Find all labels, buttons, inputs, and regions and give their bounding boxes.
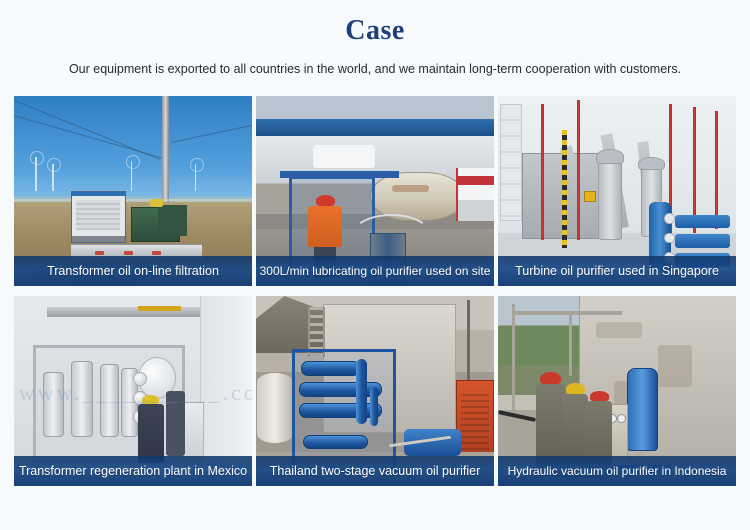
- case-card-turbine-oil-purifier-singapore[interactable]: Turbine oil purifier used in Singapore: [498, 96, 736, 286]
- case-caption: Transformer regeneration plant in Mexico: [14, 456, 252, 486]
- wall-stain: [596, 322, 643, 338]
- purifier-filter: [675, 215, 730, 229]
- page-header: Case Our equipment is exported to all co…: [0, 0, 750, 77]
- generator-louvres: [461, 394, 490, 461]
- vacuum-column: [356, 359, 367, 424]
- red-hard-hat: [590, 391, 609, 401]
- warning-chain: [562, 130, 567, 248]
- filter-cap: [664, 213, 674, 224]
- vacuum-column: [370, 387, 378, 426]
- red-standpipe: [577, 100, 580, 241]
- marker-lamp: [124, 251, 133, 255]
- case-card-transformer-oil-on-line-filtration[interactable]: Transformer oil on-line filtration: [14, 96, 252, 286]
- power-line: [171, 122, 252, 143]
- cabinet-vent: [76, 200, 120, 230]
- wind-turbine-icon: [195, 164, 197, 191]
- case-card-300l-min-lubricating-oil-purifier[interactable]: 300L/min lubricating oil purifier used o…: [256, 96, 494, 286]
- pressure-gauge: [617, 414, 626, 423]
- transformer-bushing: [598, 161, 622, 241]
- case-caption: Hydraulic vacuum oil purifier in Indones…: [498, 456, 736, 486]
- case-caption: Thailand two-stage vacuum oil purifier: [256, 456, 494, 486]
- orange-jacket: [308, 206, 341, 248]
- truck-stripe: [458, 176, 494, 186]
- purifier-canopy: [280, 171, 400, 177]
- wind-turbine-icon: [131, 161, 133, 191]
- filtration-cabinet: [71, 191, 125, 243]
- case-card-transformer-regeneration-plant-mexico[interactable]: www.__________.com Transformer regenerat…: [14, 296, 252, 486]
- white-truck: [456, 168, 494, 221]
- horizontal-pipe: [512, 311, 621, 315]
- filtration-trailer: [71, 191, 195, 259]
- white-tarp: [313, 145, 375, 168]
- storage-silo: [256, 372, 294, 444]
- purifier-filter: [675, 234, 730, 248]
- purifier-cylinder: [301, 361, 360, 376]
- page-title: Case: [0, 14, 750, 48]
- red-hard-hat: [316, 195, 335, 207]
- filter-cap: [664, 233, 674, 244]
- bushing-cap: [638, 157, 664, 170]
- case-caption: Transformer oil on-line filtration: [14, 256, 252, 286]
- case-gallery: Transformer oil on-line filtration 300L/…: [14, 96, 736, 486]
- page-subtitle: Our equipment is exported to all countri…: [0, 61, 750, 77]
- red-hard-hat: [540, 372, 561, 385]
- case-card-hydraulic-vacuum-oil-purifier-indonesia[interactable]: Hydraulic vacuum oil purifier in Indones…: [498, 296, 736, 486]
- vacuum-pump: [303, 435, 368, 449]
- yellow-cover: [150, 199, 162, 207]
- red-standpipe: [541, 104, 544, 241]
- generator-radiator: [158, 205, 188, 236]
- vertical-pipe: [512, 304, 515, 429]
- tank-rust-stain: [392, 185, 429, 192]
- vertical-pipe: [569, 311, 572, 376]
- site-watermark: www.__________.com: [19, 380, 247, 406]
- case-card-thailand-two-stage-vacuum-oil-purifier[interactable]: Thailand two-stage vacuum oil purifier: [256, 296, 494, 486]
- wind-turbine-icon: [52, 164, 54, 191]
- yellow-warning-tag: [584, 191, 596, 202]
- yellow-crane-beam: [138, 306, 181, 312]
- marker-lamp: [152, 251, 161, 255]
- louvre-panel: [500, 104, 521, 222]
- suction-hose: [351, 214, 432, 260]
- purifier-tank: [627, 368, 658, 451]
- vacuum-purifier-skid: [292, 349, 397, 471]
- case-caption: Turbine oil purifier used in Singapore: [498, 256, 736, 286]
- case-caption: 300L/min lubricating oil purifier used o…: [256, 256, 494, 286]
- bushing-cap: [596, 149, 625, 164]
- blue-roof: [256, 119, 494, 136]
- marker-lamp: [95, 251, 104, 255]
- power-cable: [498, 410, 536, 422]
- transmission-tower: [162, 96, 169, 206]
- wind-turbine-icon: [35, 157, 37, 191]
